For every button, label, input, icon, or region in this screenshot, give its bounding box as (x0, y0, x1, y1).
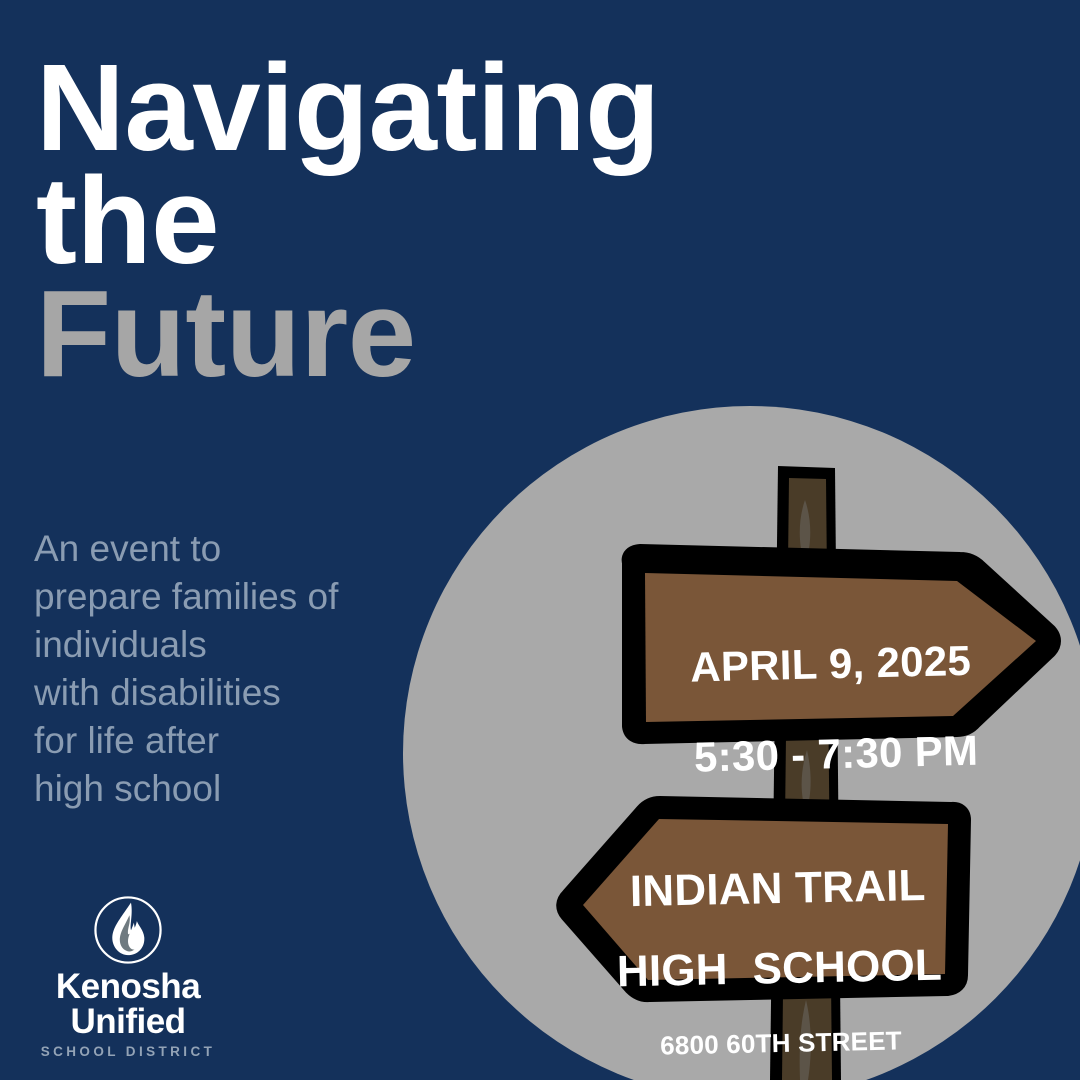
description-line-5: for life after (34, 717, 434, 765)
sign-date-line-1: APRIL 9, 2025 (690, 637, 972, 691)
page-title: Navigating the Future (36, 52, 796, 391)
kenosha-unified-logo: Kenosha Unified SCHOOL DISTRICT (28, 893, 228, 1059)
description-line-4: with disabilities (34, 669, 434, 717)
sign-date-text: APRIL 9, 2025 5:30 - 7:30 PM (642, 594, 957, 826)
logo-wordmark: Kenosha Unified (28, 969, 228, 1039)
headline-line-1: Navigating (36, 52, 796, 165)
description-line-3: individuals (34, 621, 434, 669)
sign-school-line-1: INDIAN TRAIL (597, 862, 958, 915)
description-line-1: An event to (34, 525, 434, 573)
event-description: An event to prepare families of individu… (34, 525, 434, 814)
sign-street-line: 6800 60TH STREET (601, 1025, 962, 1062)
headline-line-3: Future (36, 278, 796, 391)
event-flyer: Navigating the Future An event to prepar… (0, 0, 1080, 1080)
description-line-6: high school (34, 765, 434, 813)
sign-date-line-2: 5:30 - 7:30 PM (693, 726, 978, 780)
logo-name-line-1: Kenosha (28, 969, 228, 1004)
sign-school-line-2: HIGH SCHOOL (599, 942, 960, 995)
description-line-2: prepare families of (34, 573, 434, 621)
flame-in-circle-icon (91, 893, 165, 967)
sign-address-text: INDIAN TRAIL HIGH SCHOOL 6800 60TH STREE… (597, 828, 964, 1080)
logo-name-line-2: Unified (28, 1004, 228, 1039)
headline-line-2: the (36, 165, 796, 278)
logo-tagline: SCHOOL DISTRICT (28, 1044, 228, 1059)
